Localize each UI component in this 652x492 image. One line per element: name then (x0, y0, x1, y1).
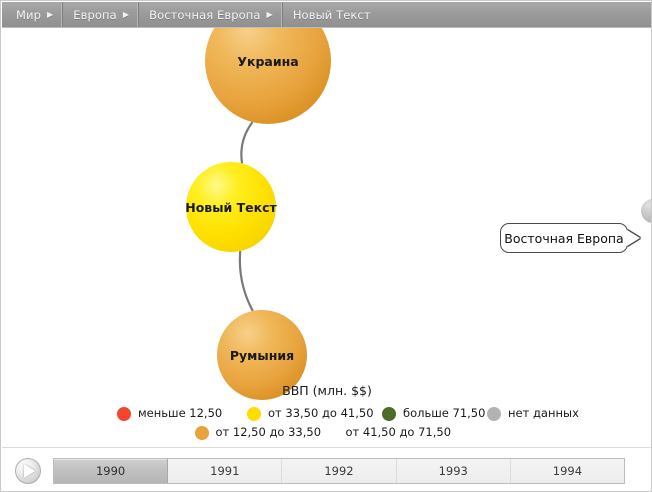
legend-item-label: нет данных (508, 408, 579, 420)
graph-node-label: Новый Текст (185, 200, 277, 215)
timeline-year[interactable]: 1993 (397, 459, 511, 483)
node-tooltip: Восточная Европа (500, 223, 628, 253)
graph-edge (240, 251, 253, 311)
legend-item: от 33,50 до 41,50 (247, 404, 382, 423)
chevron-right-icon: ▶ (47, 11, 53, 19)
timeline-year-label: 1992 (324, 464, 353, 478)
timeline-year-label: 1993 (439, 464, 468, 478)
play-icon (24, 464, 35, 478)
legend-item: от 41,50 до 71,50 (325, 423, 460, 442)
legend-swatch-icon (487, 407, 501, 421)
breadcrumb-item-label: Европа (73, 8, 117, 22)
legend-item: от 12,50 до 33,50 (195, 423, 325, 442)
play-button[interactable] (15, 458, 41, 484)
legend-swatch-icon (117, 407, 131, 421)
breadcrumb-item-label: Мир (16, 8, 41, 22)
chevron-right-icon: ▶ (267, 11, 273, 19)
legend-title: ВВП (млн. $$) (2, 383, 652, 398)
breadcrumb-item-1[interactable]: Мир▶ (2, 2, 63, 27)
timeline-year-label: 1994 (553, 464, 582, 478)
timeline-year[interactable]: 1991 (168, 459, 282, 483)
graph-node[interactable]: Новый Текст (186, 162, 276, 252)
legend-item-label: от 41,50 до 71,50 (346, 427, 452, 439)
year-slider[interactable]: 19901991199219931994 (53, 458, 625, 484)
graph-canvas[interactable]: УкраинаНовый ТекстРумыния Восточная Евро… (2, 28, 652, 438)
timeline: 19901991199219931994 (2, 447, 652, 492)
legend-item-label: больше 71,50 (403, 408, 485, 420)
legend-item-label: от 33,50 до 41,50 (268, 408, 374, 420)
legend-item-label: меньше 12,50 (138, 408, 222, 420)
legend-swatch-icon (195, 426, 209, 440)
tooltip-pointer-icon (627, 230, 640, 246)
graph-edge (241, 122, 252, 163)
legend-items: меньше 12,50от 33,50 до 41,50больше 71,5… (117, 404, 537, 442)
timeline-year-selected[interactable]: 1990 (54, 459, 168, 483)
legend-item-label: от 12,50 до 33,50 (216, 427, 322, 439)
legend-swatch-icon (325, 426, 339, 440)
legend: ВВП (млн. $$) меньше 12,50от 33,50 до 41… (2, 383, 652, 442)
legend-item: меньше 12,50 (117, 404, 247, 423)
node-tooltip-label: Восточная Европа (504, 231, 623, 246)
breadcrumb-item-label: Восточная Европа (149, 8, 260, 22)
breadcrumb-item-label: Новый Текст (293, 8, 371, 22)
breadcrumb-item-4: Новый Текст (283, 2, 380, 27)
legend-swatch-icon (382, 407, 396, 421)
breadcrumb-item-3[interactable]: Восточная Европа▶ (139, 2, 283, 27)
timeline-year-label: 1991 (210, 464, 239, 478)
graph-node-label: Украина (237, 54, 298, 69)
legend-item: больше 71,50 (382, 404, 487, 423)
graph-node-label: Румыния (230, 348, 294, 363)
legend-item: нет данных (487, 404, 537, 423)
timeline-year[interactable]: 1994 (511, 459, 624, 483)
chevron-right-icon: ▶ (123, 11, 129, 19)
breadcrumb-item-2[interactable]: Европа▶ (63, 2, 139, 27)
legend-swatch-icon (247, 407, 261, 421)
timeline-year[interactable]: 1992 (282, 459, 396, 483)
breadcrumb: Мир▶Европа▶Восточная Европа▶Новый Текст (2, 2, 652, 28)
timeline-year-label: 1990 (96, 464, 125, 478)
motion-chart-app: Мир▶Европа▶Восточная Европа▶Новый Текст … (0, 0, 652, 492)
